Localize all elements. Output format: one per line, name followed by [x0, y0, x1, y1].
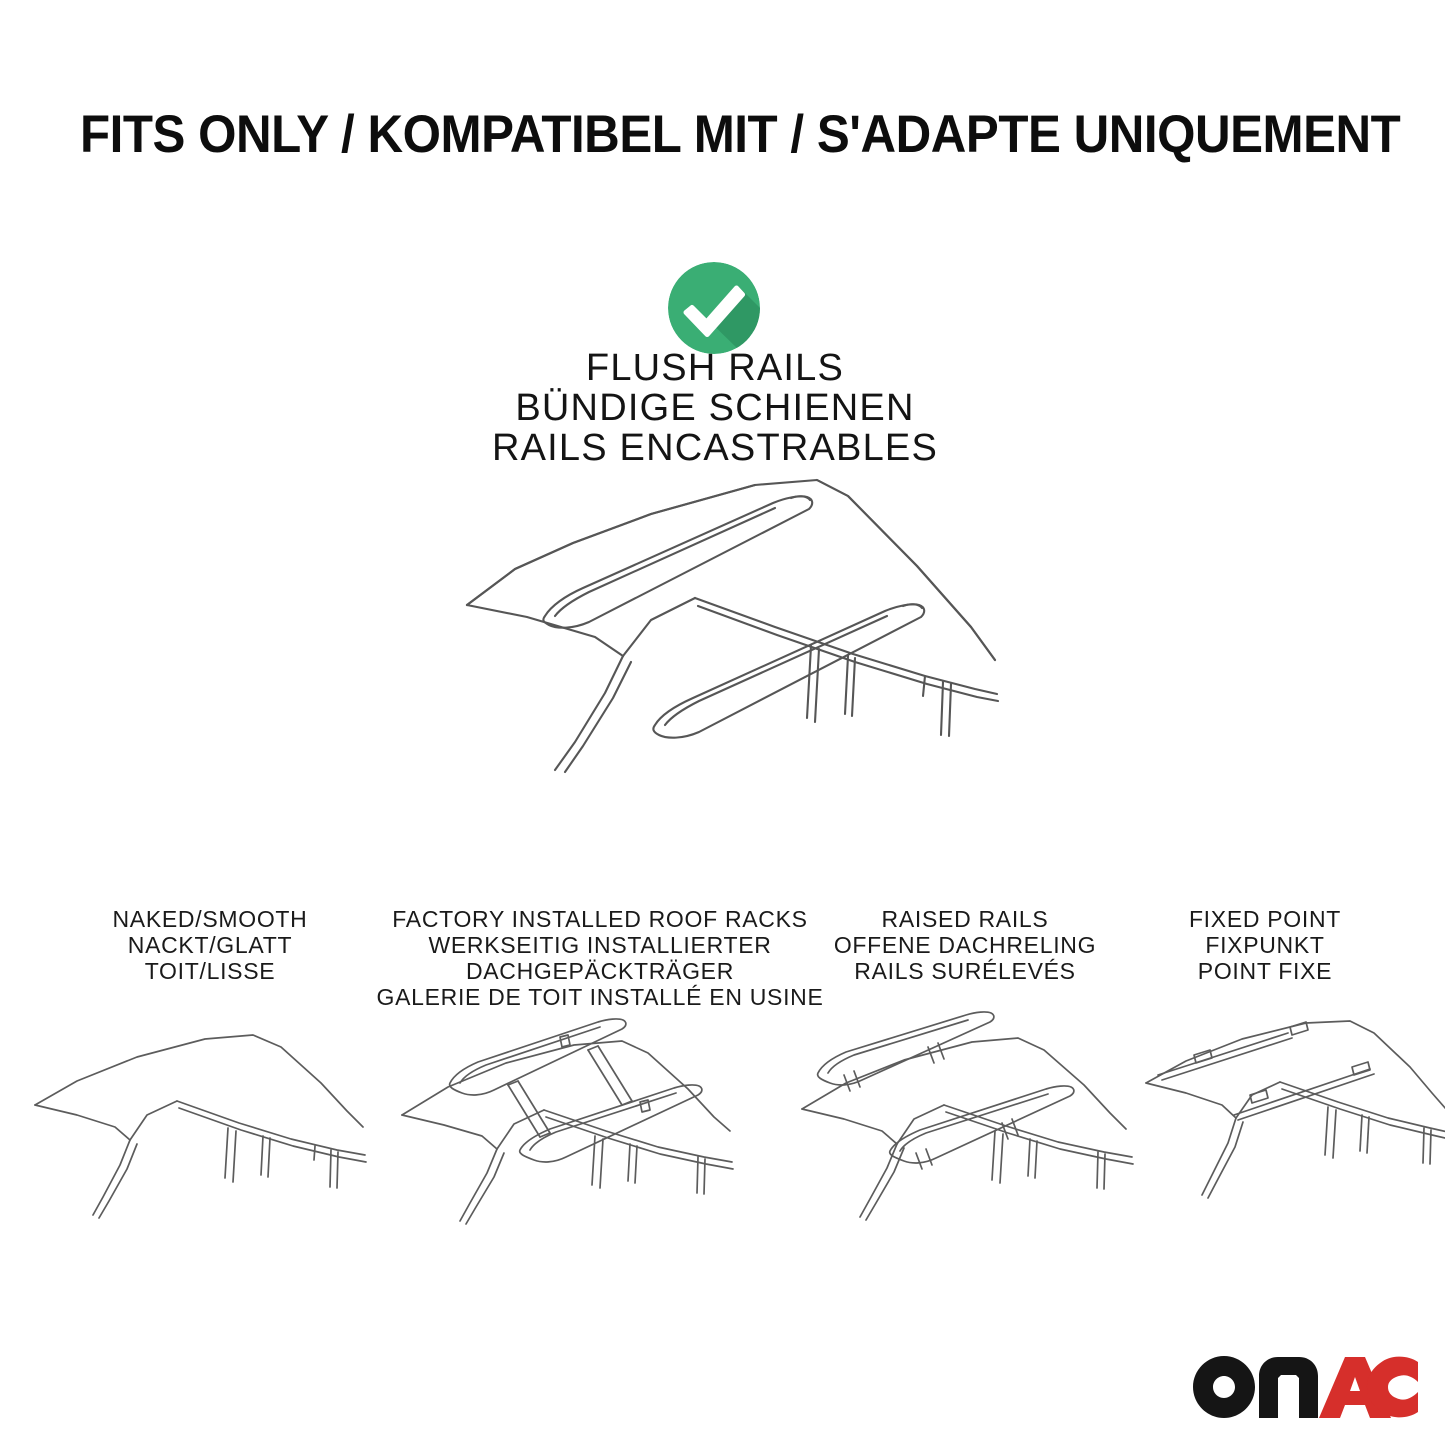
incompatible-label-fixed-point: FIXED POINT FIXPUNKT POINT FIXE [1125, 906, 1405, 984]
label-line: FIXPUNKT [1125, 932, 1405, 958]
car-roof-with-flush-rails-illustration [455, 470, 1000, 775]
compatibility-chart-page: FITS ONLY / KOMPATIBEL MIT / S'ADAPTE UN… [0, 0, 1445, 1445]
car-roof-factory-installed-roof-racks-illustration [390, 1005, 740, 1237]
label-line: TOIT/LISSE [30, 958, 390, 984]
car-roof-naked-smooth-illustration [25, 1005, 370, 1230]
label-line: WERKSEITIG INSTALLIERTER [370, 932, 830, 958]
label-line: NAKED/SMOOTH [30, 906, 390, 932]
page-title: FITS ONLY / KOMPATIBEL MIT / S'ADAPTE UN… [80, 104, 1280, 166]
incompatible-label-raised-rails: RAISED RAILS OFFENE DACHRELING RAILS SUR… [820, 906, 1110, 984]
label-line: POINT FIXE [1125, 958, 1405, 984]
compatible-label-line-2: BÜNDIGE SCHIENEN [395, 388, 1035, 428]
compatible-label-line-1: FLUSH RAILS [395, 348, 1035, 388]
label-line: DACHGEPÄCKTRÄGER [370, 958, 830, 984]
omac-logo [1193, 1356, 1418, 1418]
compatible-label: FLUSH RAILS BÜNDIGE SCHIENEN RAILS ENCAS… [395, 348, 1035, 468]
label-line: RAISED RAILS [820, 906, 1110, 932]
label-line: FACTORY INSTALLED ROOF RACKS [370, 906, 830, 932]
label-line: RAILS SURÉLEVÉS [820, 958, 1110, 984]
label-line: OFFENE DACHRELING [820, 932, 1110, 958]
label-line: NACKT/GLATT [30, 932, 390, 958]
compatible-label-line-3: RAILS ENCASTRABLES [395, 428, 1035, 468]
label-line: FIXED POINT [1125, 906, 1405, 932]
incompatible-label-factory-roof-racks: FACTORY INSTALLED ROOF RACKS WERKSEITIG … [370, 906, 830, 1010]
incompatible-label-naked-smooth: NAKED/SMOOTH NACKT/GLATT TOIT/LISSE [30, 906, 390, 984]
car-roof-raised-rails-illustration [788, 1005, 1138, 1230]
car-roof-fixed-point-illustration [1138, 1005, 1445, 1230]
check-circle-icon [668, 262, 760, 354]
